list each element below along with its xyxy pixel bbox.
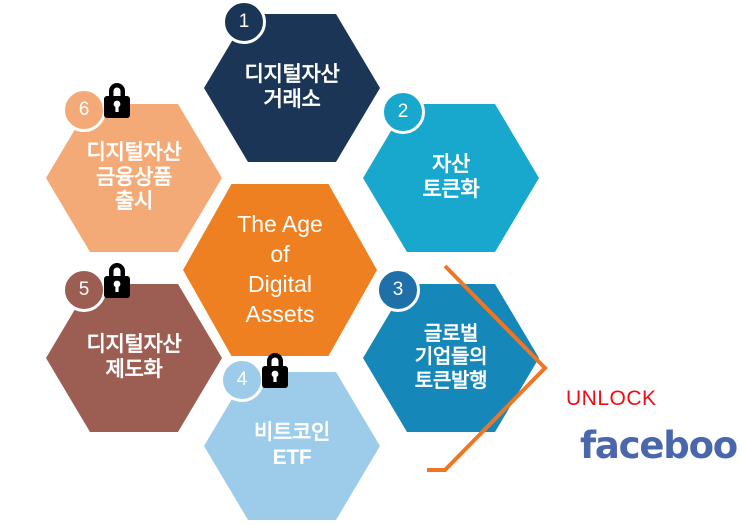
hexagon-node-5-label: 디지털자산 제도화 bbox=[80, 333, 187, 383]
orange-chevron-outline-icon bbox=[425, 258, 625, 488]
center-hexagon-label: The Age of Digital Assets bbox=[231, 210, 329, 330]
center-hexagon[interactable]: The Age of Digital Assets bbox=[183, 184, 377, 356]
hexagon-node-2-label: 자산 토큰화 bbox=[416, 153, 485, 203]
padlock-closed-icon bbox=[100, 80, 134, 120]
hexagon-node-6-label: 디지털자산 금융상품 출시 bbox=[80, 141, 187, 215]
padlock-closed-icon bbox=[258, 350, 292, 390]
hexagon-node-4-label: 비트코인 ETF bbox=[248, 421, 336, 471]
node-badge-3[interactable]: 3 bbox=[376, 268, 420, 312]
node-badge-1[interactable]: 1 bbox=[222, 0, 266, 44]
hexagon-node-1-label: 디지털자산 거래소 bbox=[238, 63, 345, 113]
node-badge-2[interactable]: 2 bbox=[381, 90, 425, 134]
padlock-closed-icon bbox=[100, 260, 134, 300]
